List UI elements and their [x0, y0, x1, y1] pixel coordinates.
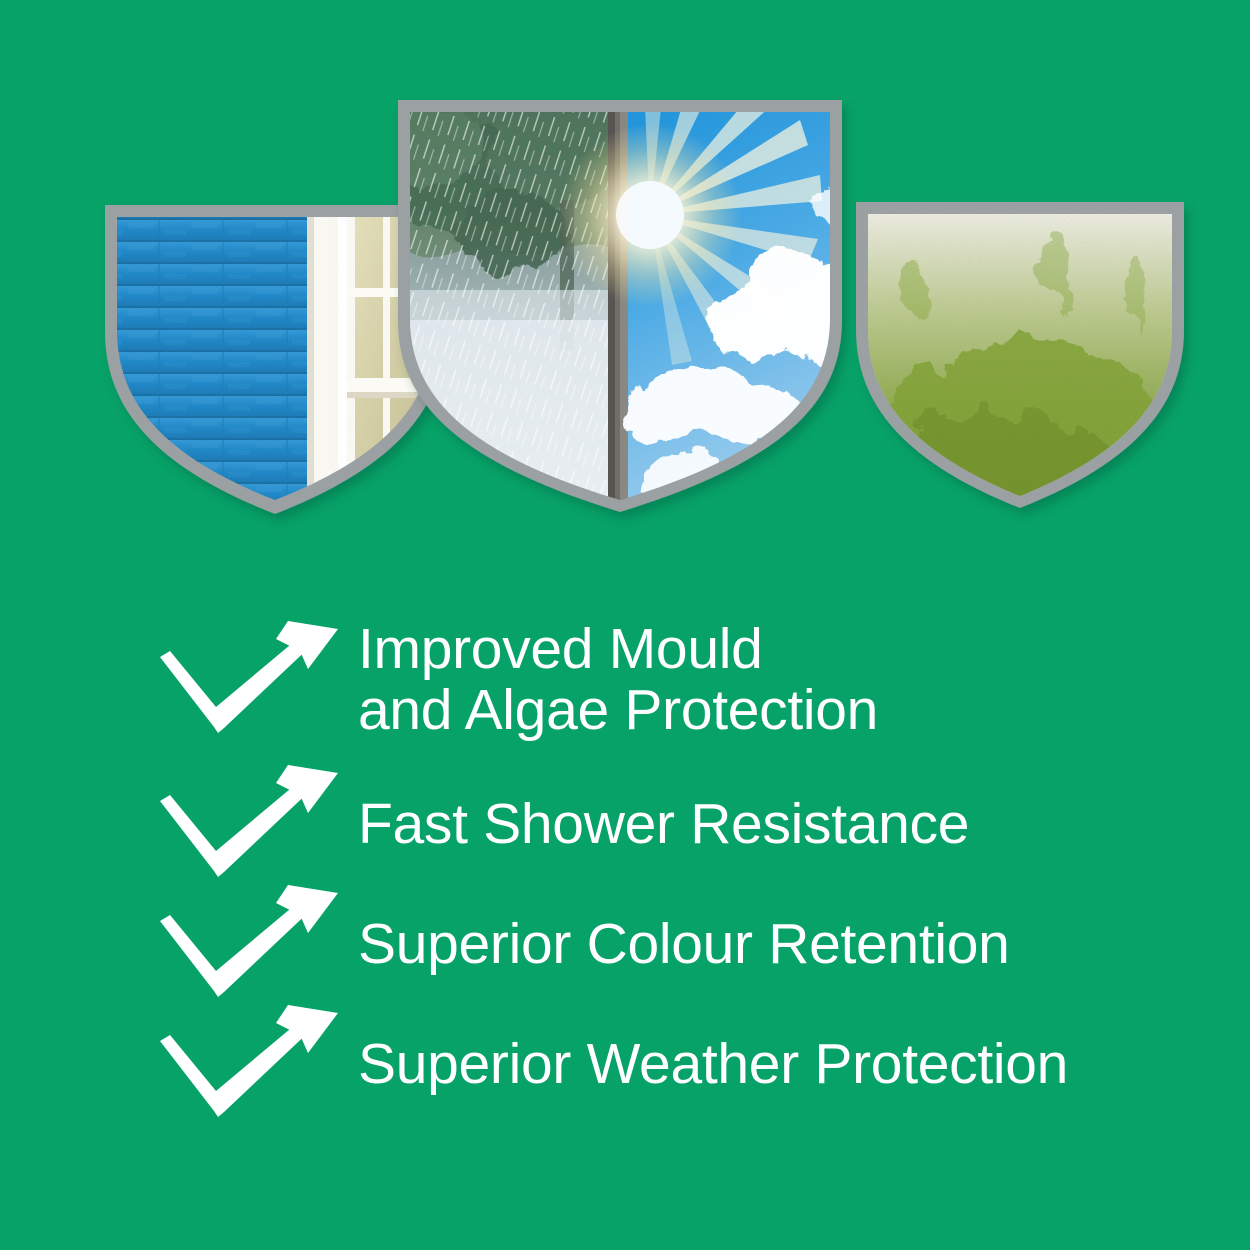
list-item-label: Superior Colour Retention [358, 914, 1010, 975]
weather-shield [382, 65, 870, 520]
algae-shield [856, 202, 1190, 516]
shield-group [0, 0, 1250, 540]
masonry-shield [105, 205, 445, 520]
list-item: Fast Shower Resistance [0, 764, 1250, 884]
benefits-list: Improved Mould and Algae Protection Fast… [0, 596, 1250, 1124]
list-item-label: Superior Weather Protection [358, 1034, 1068, 1095]
tick-arrow-icon [152, 765, 352, 883]
list-item-label: Fast Shower Resistance [358, 794, 969, 855]
tick-arrow-icon [152, 621, 352, 739]
tick-arrow-icon [152, 885, 352, 1003]
list-item: Improved Mould and Algae Protection [0, 596, 1250, 764]
list-item: Superior Colour Retention [0, 884, 1250, 1004]
tick-arrow-icon [152, 1005, 352, 1123]
promo-poster: Improved Mould and Algae Protection Fast… [0, 0, 1250, 1250]
list-item-label: Improved Mould and Algae Protection [358, 619, 878, 741]
list-item: Superior Weather Protection [0, 1004, 1250, 1124]
